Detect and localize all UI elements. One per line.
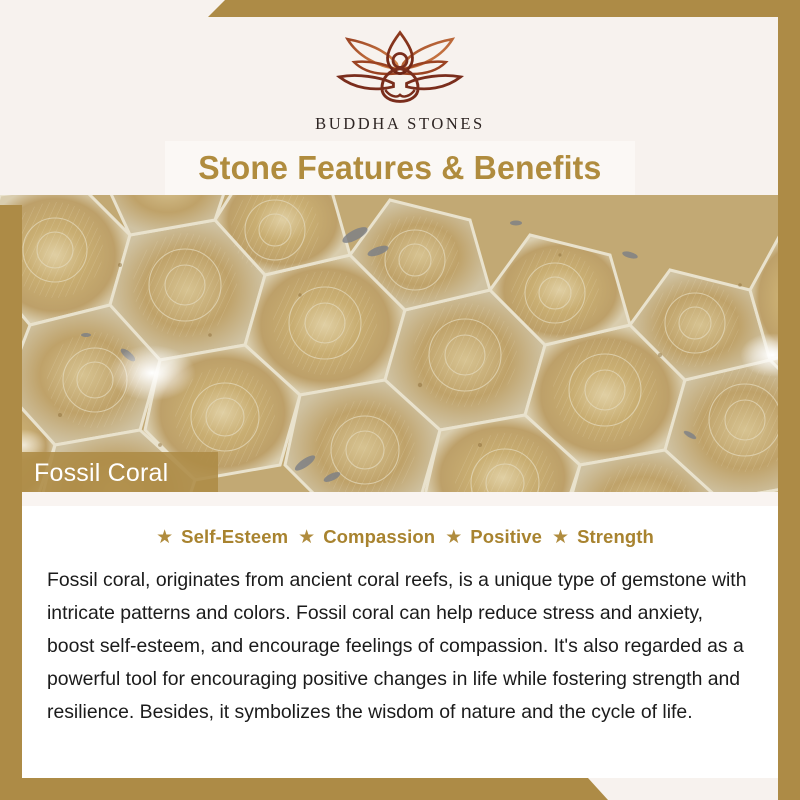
benefits-list: ★ Self-Esteem ★ Compassion ★ Positive ★ … [22,526,778,548]
star-icon: ★ [156,528,173,547]
benefit-item-compassion: ★ Compassion [288,526,435,548]
star-icon: ★ [552,528,569,547]
brand-name: BUDDHA STONES [315,114,485,134]
lotus-meditation-icon [316,26,484,108]
coral-texture [0,195,800,492]
frame-right-band [778,0,800,800]
page-title: Stone Features & Benefits [198,149,601,187]
benefit-item-self-esteem: ★ Self-Esteem [146,526,288,548]
brand-logo-area: BUDDHA STONES [0,14,800,154]
benefit-label: Strength [577,526,654,548]
frame-left-band [0,205,22,800]
title-banner: Stone Features & Benefits [165,141,635,195]
infographic-page: BUDDHA STONES Stone Features & Benefits [0,0,800,800]
content-card: ★ Self-Esteem ★ Compassion ★ Positive ★ … [22,492,778,778]
star-icon: ★ [298,528,315,547]
benefit-label: Self-Esteem [181,526,288,548]
benefit-item-strength: ★ Strength [542,526,654,548]
frame-bottom-band [0,778,800,800]
benefit-label: Compassion [323,526,435,548]
stone-name-caption: Fossil Coral [34,459,168,488]
stone-description: Fossil coral, originates from ancient co… [47,564,753,729]
star-icon: ★ [445,528,462,547]
card-top-fade [22,492,778,506]
benefit-item-positive: ★ Positive [435,526,542,548]
fossil-coral-photo [0,195,800,492]
benefit-label: Positive [470,526,542,548]
